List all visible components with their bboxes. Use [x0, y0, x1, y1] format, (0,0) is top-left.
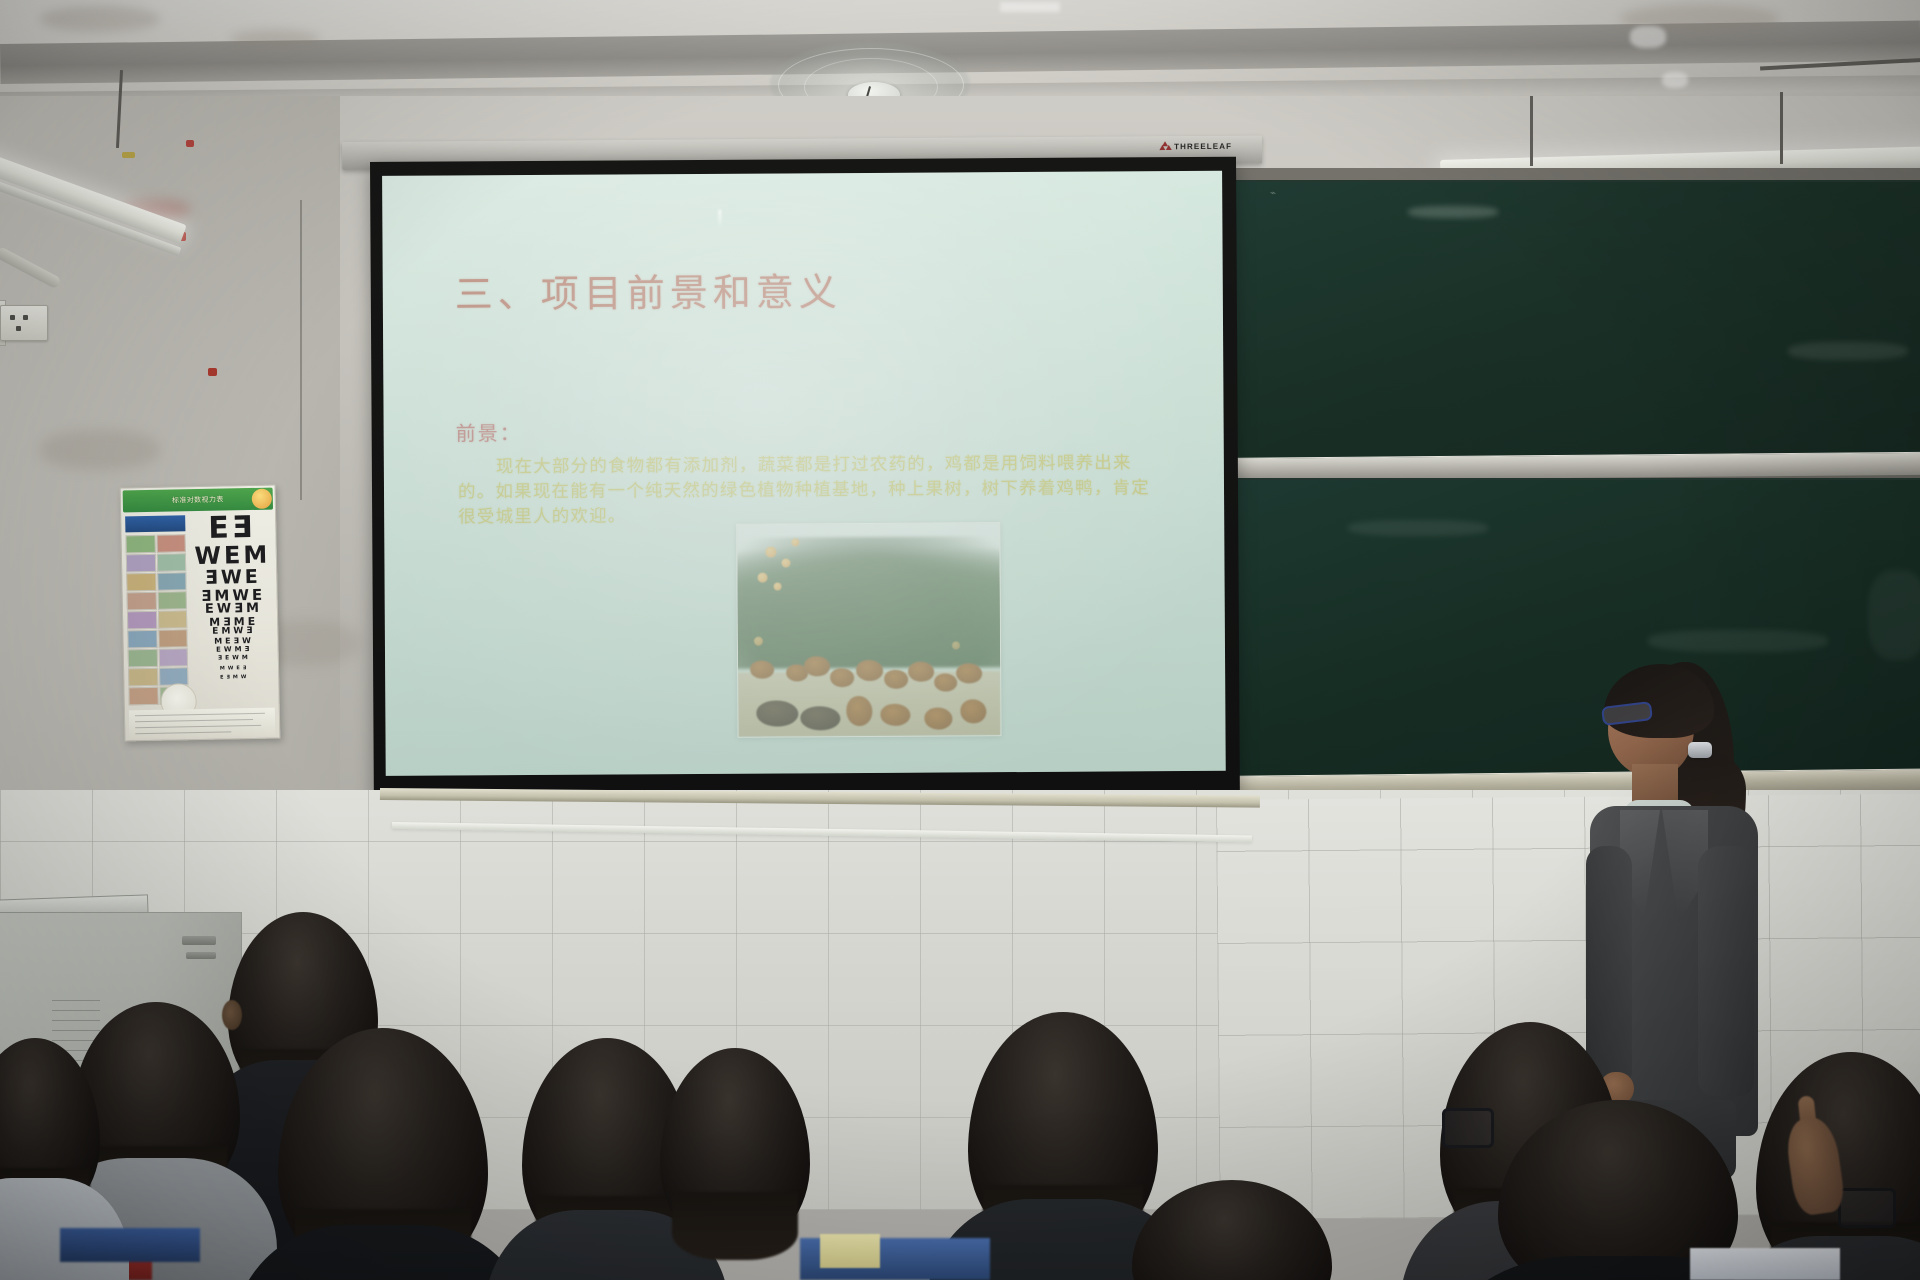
eye-chart-glyph: W	[233, 628, 243, 636]
outlet-socket-hole	[23, 315, 28, 320]
eye-chart-glyph: M	[235, 647, 242, 653]
eye-chart-glyph: M	[209, 618, 220, 627]
eye-chart-row: ƎEWM	[192, 655, 274, 664]
poster-illustration-cell	[158, 648, 188, 667]
ceiling-wire	[1530, 96, 1533, 166]
poster-illustration-cell	[126, 554, 156, 573]
poster-title: 标准对数视力表	[172, 495, 224, 506]
ceiling-stain	[40, 6, 160, 32]
eye-chart-glyph: Ǝ	[234, 604, 243, 615]
slide-body-text: 现在大部分的食物都有添加剂，蔬菜都是打过农药的，鸡都是用饲料喂养出来的。如果现在…	[458, 451, 1164, 530]
eye-chart-glyph: E	[248, 617, 256, 626]
student-head	[0, 1038, 100, 1218]
eye-chart-glyph: M	[242, 656, 248, 661]
eye-chart-row: EMWƎ	[191, 628, 273, 637]
photo-projection-haze	[737, 523, 1000, 737]
eye-chart-glyph: Ǝ	[246, 628, 252, 635]
eye-chart-glyph: E	[205, 605, 214, 616]
poster-illustration-cell	[158, 629, 188, 648]
eye-chart-glyph: E	[216, 648, 221, 654]
presenter-arm-right	[1698, 846, 1754, 1096]
poster-illustration-cell	[156, 553, 186, 572]
wall-stain	[40, 430, 160, 470]
projection-surface: 三、项目前景和意义 前景： 现在大部分的食物都有添加剂，蔬菜都是打过农药的，鸡都…	[382, 171, 1226, 776]
paper-on-desk	[1690, 1248, 1840, 1280]
eye-chart-row: WEM	[190, 546, 272, 567]
eye-chart-poster: 标准对数视力表 EƎWEMƎWEƎMWEEWƎMMƎMEEMWƎMEƎWEWMƎ…	[120, 485, 281, 742]
eye-chart-glyph: M	[246, 604, 259, 615]
classroom-scene: 标准对数视力表 EƎWEMƎWEƎMWEEWƎMMƎMEEMWƎMEƎWEWMƎ…	[0, 0, 1920, 1280]
student-head	[1132, 1180, 1332, 1280]
eye-chart-glyph: E	[236, 666, 239, 670]
poster-illustration-cell	[126, 573, 156, 592]
poster-illustration-cell	[127, 611, 157, 630]
eye-chart-rows: EƎWEMƎWEƎMWEEWƎMMƎMEEMWƎMEƎWEWMƎƎEWMMWEƎ…	[189, 516, 275, 718]
slide-title: 三、项目前景和意义	[455, 261, 842, 318]
eye-chart-glyph: Ǝ	[245, 647, 250, 653]
eye-chart-glyph: E	[225, 657, 229, 662]
eye-chart-glyph: W	[221, 570, 242, 586]
eye-chart-glyph: W	[232, 657, 239, 662]
student-head	[660, 1048, 810, 1248]
eye-chart-row: EWMƎ	[192, 646, 274, 655]
eye-chart-row: MƎME	[191, 617, 273, 628]
eye-chart-glyph: E	[252, 589, 262, 601]
paper-on-desk	[820, 1234, 880, 1268]
projector-brand-text: THREELEAF	[1174, 141, 1232, 150]
eye-chart-glyph: M	[221, 628, 230, 636]
eye-chart-glyph: M	[214, 638, 222, 645]
ceiling-wire	[1780, 92, 1783, 164]
eye-chart-glyph: Ǝ	[232, 516, 253, 541]
poster-illustration-cell	[128, 649, 158, 668]
poster-illustration-cell	[157, 610, 187, 629]
wall-cable	[300, 200, 302, 500]
poster-illustration-cell	[128, 687, 158, 706]
eye-chart-glyph: W	[228, 666, 234, 670]
eye-chart-row: MWEƎ	[192, 664, 274, 673]
eye-chart-glyph: E	[220, 675, 223, 679]
eye-chart-row: EWƎM	[191, 604, 273, 616]
eye-chart-glyph: W	[242, 638, 251, 645]
eye-chart-row: EƎMW	[192, 673, 274, 682]
poster-illustration-cell	[157, 591, 187, 610]
eye-chart-glyph: Ǝ	[201, 590, 211, 602]
presenter-hair-clip	[1688, 742, 1712, 758]
slide-photo-chickens-orchard	[736, 522, 1001, 738]
projector-brand-logo: THREELEAF	[1160, 141, 1232, 152]
eye-chart-glyph: W	[232, 589, 249, 602]
eye-chart-glyph: Ǝ	[223, 617, 231, 626]
paint-fleck	[186, 140, 194, 147]
student-glasses	[1442, 1108, 1494, 1148]
eye-chart-glyph: M	[220, 666, 225, 670]
paint-fleck	[208, 368, 217, 376]
eye-chart-glyph: Ǝ	[205, 571, 218, 587]
poster-illustration-cell	[127, 630, 157, 649]
eye-chart-row: ƎWE	[190, 570, 272, 587]
poster-illustration-cell	[156, 534, 186, 553]
eye-chart-glyph: Ǝ	[218, 657, 222, 662]
poster-header: 标准对数视力表	[123, 488, 273, 513]
blackboard-panel-upper: ⌁	[1226, 180, 1920, 464]
paint-fleck	[122, 152, 135, 158]
eye-chart-glyph: W	[217, 604, 232, 615]
eye-chart-glyph: W	[241, 675, 247, 679]
cabinet-hinge	[186, 952, 216, 959]
outlet-socket-hole	[16, 326, 21, 331]
eye-chart-glyph: Ǝ	[243, 666, 246, 670]
eye-chart-glyph: Ǝ	[226, 675, 229, 679]
student-head	[278, 1028, 488, 1280]
ceiling-peel	[1630, 26, 1666, 48]
eye-chart-glyph: W	[224, 647, 232, 653]
eye-chart-glyph: M	[234, 617, 245, 626]
outlet-socket-hole	[10, 315, 15, 320]
eye-chart-glyph: E	[224, 546, 241, 566]
eye-chart-glyph: M	[243, 546, 267, 566]
student-head	[968, 1012, 1158, 1252]
wall-outlet[interactable]	[0, 305, 48, 341]
eye-chart-glyph: M	[214, 589, 229, 602]
eye-chart-glyph: Ǝ	[234, 638, 240, 645]
desk-edge	[60, 1228, 200, 1262]
poster-footer	[129, 708, 276, 739]
eye-chart-glyph: E	[245, 570, 258, 586]
eye-chart-glyph: E	[212, 629, 218, 636]
eye-chart-glyph: W	[194, 547, 221, 567]
poster-illustration-cell	[125, 535, 155, 554]
eye-chart-row: MEƎW	[191, 637, 273, 646]
projection-hotspot	[718, 210, 721, 228]
ceiling-peel	[1000, 2, 1060, 12]
poster-illustration-cell	[128, 668, 158, 687]
blackboard-panel-lower	[1226, 478, 1920, 782]
eye-chart-row: EƎ	[189, 516, 271, 542]
student-glasses	[1838, 1188, 1896, 1228]
poster-illustration-cell	[127, 592, 157, 611]
poster-illustration-grid	[125, 515, 189, 706]
poster-illustration-cell	[157, 572, 187, 591]
slide-section-label: 前景：	[456, 417, 522, 446]
ceiling-peel	[1662, 72, 1688, 88]
eye-chart-glyph: E	[225, 638, 231, 645]
projection-screen[interactable]: 三、项目前景和意义 前景： 现在大部分的食物都有添加剂，蔬菜都是打过农药的，鸡都…	[370, 157, 1240, 798]
eye-chart-row: ƎMWE	[191, 589, 273, 603]
cabinet-hinge	[182, 936, 216, 945]
eye-chart-glyph: E	[208, 516, 229, 541]
eye-chart-glyph: M	[233, 675, 238, 679]
ceiling-stain	[230, 30, 320, 48]
three-diamond-mark-icon	[1160, 141, 1171, 151]
